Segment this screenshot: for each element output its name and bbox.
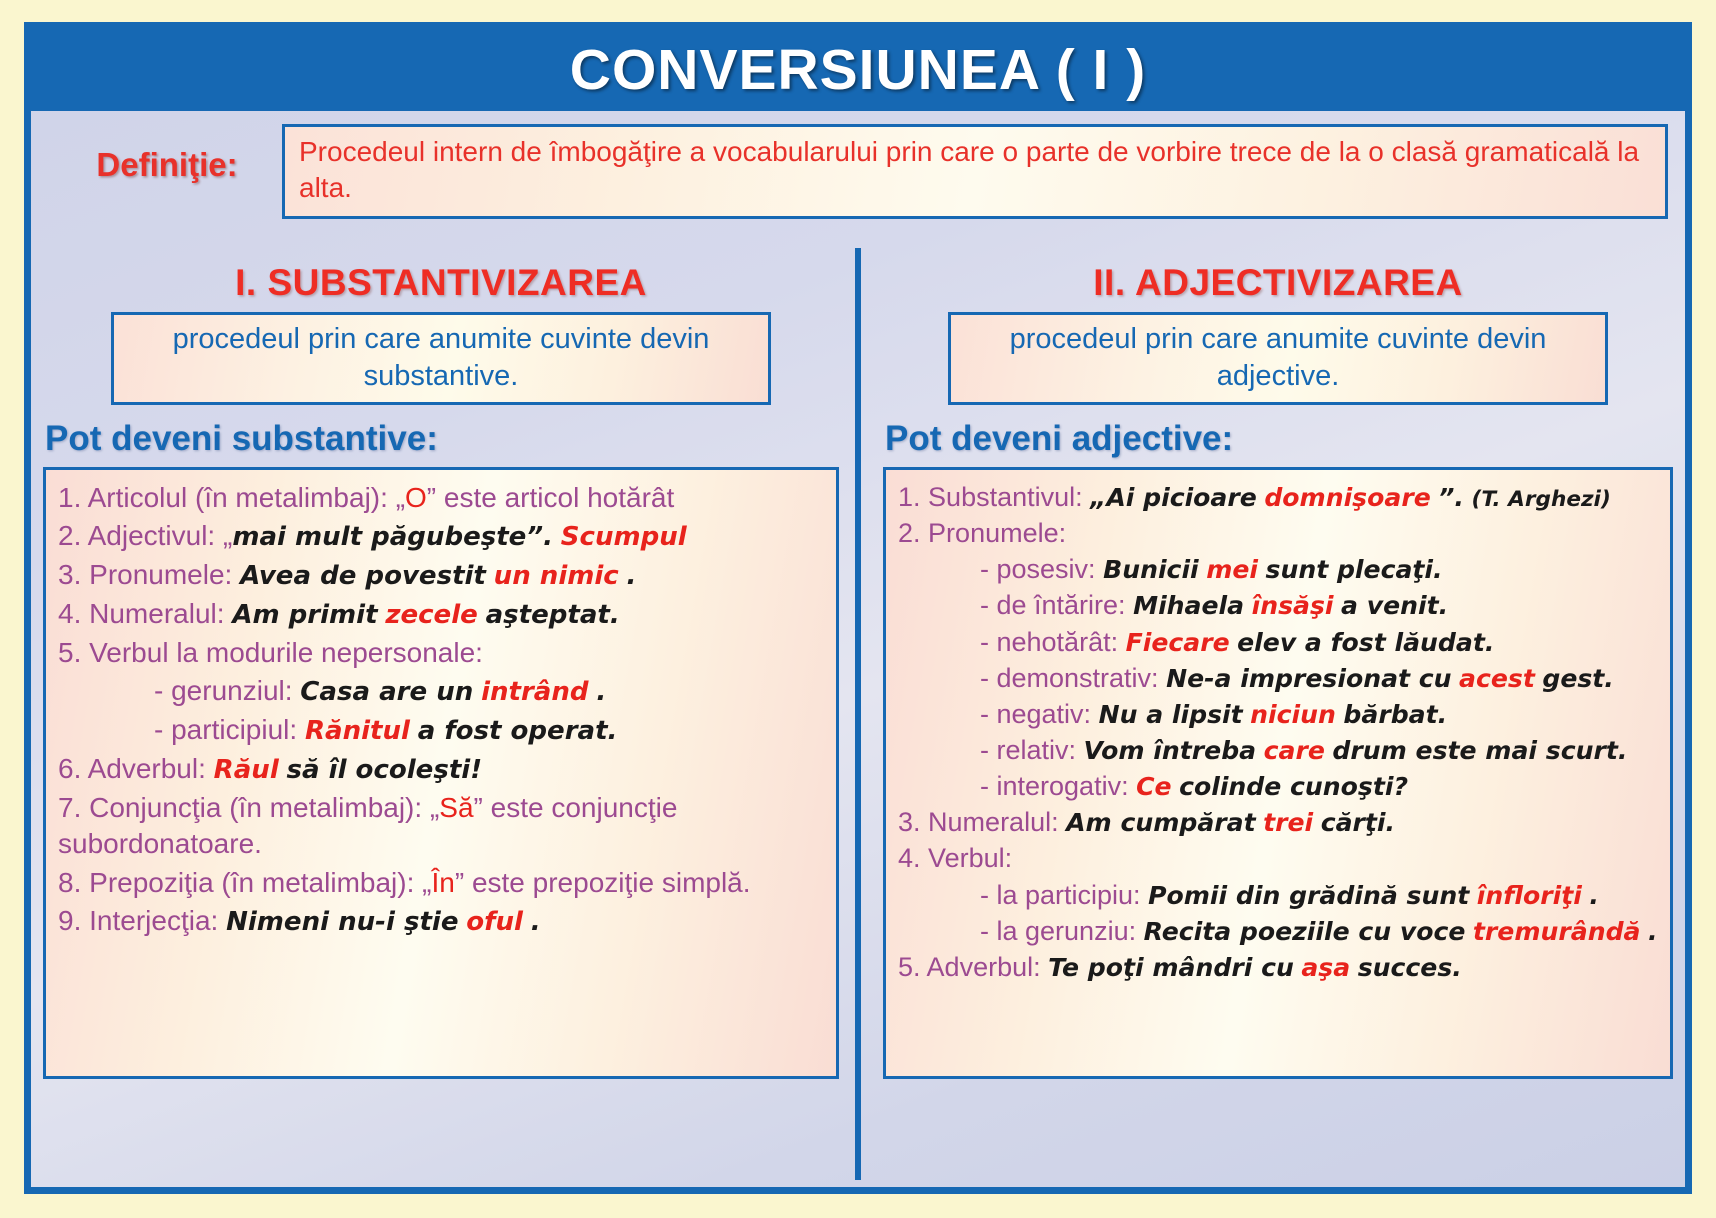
highlight-word: domnişoare — [1264, 483, 1430, 512]
subtitle-text-left: procedeul prin care anumite cuvinte devi… — [122, 321, 760, 394]
item-sublabel: - gerunziul: — [154, 675, 293, 706]
item-label: Interjecţia: — [89, 905, 218, 936]
item-label: Adverbul: — [927, 952, 1041, 982]
example-text: Pomii din grădină sunt — [1148, 881, 1469, 910]
example-text: Te poţi mândri cu — [1048, 953, 1294, 982]
highlight-word: Scumpul — [561, 522, 687, 552]
example-text: „Ai picioare — [1090, 483, 1257, 512]
list-item: 3. Numeralul: Am cumpărat trei cărţi. — [898, 805, 1658, 839]
example-text: mai mult păgubeşte”. — [232, 522, 553, 552]
example-text: Am primit — [232, 600, 377, 630]
highlight-word: tremurândă — [1473, 917, 1641, 946]
list-item: - de întărire: Mihaela însăşi a venit. — [898, 588, 1658, 622]
item-sublabel: - participiul: — [154, 714, 297, 745]
item-label: Articolul (în metalimbaj): — [88, 482, 388, 513]
item-label: Numeralul: — [928, 807, 1059, 837]
example-text: colinde cunoşti? — [1179, 772, 1408, 801]
example-text: Nimeni nu-i ştie — [226, 907, 458, 937]
highlight-word: Rănitul — [305, 716, 410, 746]
item-number: 1. — [898, 482, 921, 512]
list-item: 5. Verbul la modurile nepersonale: — [58, 635, 824, 671]
example-text: Ne-a impresionat cu — [1166, 664, 1451, 693]
quote-close: ” — [427, 482, 436, 513]
example-text: elev a fost lăudat. — [1237, 628, 1494, 657]
list-item: 1. Substantivul: „Ai picioare domnişoare… — [898, 480, 1658, 514]
quote-open: „ — [396, 482, 405, 513]
example-text: Bunicii — [1103, 555, 1199, 584]
example-text: succes. — [1358, 953, 1462, 982]
highlight-word: un nimic — [494, 561, 619, 591]
item-number: 2. — [898, 518, 921, 548]
item-label: Pronumele: — [89, 559, 232, 590]
example-text: . — [531, 907, 541, 937]
item-number: 7. — [58, 792, 81, 823]
list-item: - la participiu: Pomii din grădină sunt … — [898, 878, 1658, 912]
item-sublabel: - la gerunziu: — [980, 916, 1136, 946]
subtitle-box-left: procedeul prin care anumite cuvinte devi… — [111, 312, 771, 405]
highlight-word: însăşi — [1252, 591, 1334, 620]
highlight-word: acest — [1459, 664, 1535, 693]
poster-root: CONVERSIUNEA ( I ) Definiţie: Procedeul … — [0, 0, 1716, 1218]
highlight-word: Ce — [1136, 772, 1171, 801]
item-number: 4. — [58, 598, 81, 629]
list-item: 6. Adverbul: Răul să îl ocoleşti! — [58, 751, 824, 788]
item-number: 5. — [898, 952, 921, 982]
highlight-word: aşa — [1301, 953, 1350, 982]
list-item: 4. Numeralul: Am primit zecele aşteptat. — [58, 596, 824, 633]
quote-open: „ — [430, 792, 439, 823]
example-text: sunt plecaţi. — [1266, 555, 1443, 584]
list-box-left: 1. Articolul (în metalimbaj): „O” este a… — [43, 467, 839, 1079]
item-label: Pronumele: — [928, 518, 1066, 548]
example-text: a venit. — [1341, 591, 1448, 620]
item-sublabel: - negativ: — [980, 699, 1091, 729]
item-number: 2. — [58, 520, 81, 551]
section-title-left: I. SUBSTANTIVIZAREA — [43, 262, 839, 304]
section-title-right: II. ADJECTIVIZAREA — [883, 262, 1673, 304]
list-item: 2. Pronumele: — [898, 516, 1658, 550]
highlight-word: Să — [439, 792, 473, 823]
list-item: 4. Verbul: — [898, 841, 1658, 875]
column-substantivizarea: I. SUBSTANTIVIZAREA procedeul prin care … — [31, 248, 851, 1079]
example-text: Avea de povestit — [240, 561, 486, 591]
item-number: 6. — [58, 753, 81, 784]
highlight-word: mei — [1206, 555, 1258, 584]
quote-close: ” — [455, 867, 464, 898]
list-item: 7. Conjuncţia (în metalimbaj): „Să” este… — [58, 790, 824, 863]
list-item: - demonstrativ: Ne-a impresionat cu aces… — [898, 661, 1658, 695]
title-bar: CONVERSIUNEA ( I ) — [31, 29, 1685, 111]
item-sublabel: - nehotărât: — [980, 627, 1118, 657]
item-label: Prepoziţia (în metalimbaj): — [89, 867, 414, 898]
list-heading-right: Pot deveni adjective: — [885, 419, 1673, 459]
item-label: Verbul la modurile nepersonale: — [89, 637, 483, 668]
list-item: 3. Pronumele: Avea de povestit un nimic … — [58, 557, 824, 594]
item-sublabel: - de întărire: — [980, 590, 1126, 620]
example-text: aşteptat. — [486, 600, 620, 630]
example-text: Recita poeziile cu voce — [1144, 917, 1466, 946]
highlight-word: O — [405, 482, 427, 513]
list-heading-left: Pot deveni substantive: — [45, 419, 839, 459]
item-sublabel: - la participiu: — [980, 880, 1141, 910]
subtitle-box-right: procedeul prin care anumite cuvinte devi… — [948, 312, 1608, 405]
list-item: - negativ: Nu a lipsit niciun bărbat. — [898, 697, 1658, 731]
list-item: - relativ: Vom întreba care drum este ma… — [898, 733, 1658, 767]
highlight-word: înfloriţi — [1477, 881, 1582, 910]
item-number: 4. — [898, 843, 921, 873]
example-text: Nu a lipsit — [1099, 700, 1243, 729]
definition-label: Definiţie: — [52, 124, 282, 184]
list-box-right: 1. Substantivul: „Ai picioare domnişoare… — [883, 467, 1673, 1079]
column-divider — [855, 248, 861, 1180]
item-tail-label: este prepoziţie simplă. — [472, 867, 751, 898]
attribution: (T. Arghezi) — [1472, 487, 1611, 512]
item-label: Adjectivul: — [88, 520, 216, 551]
highlight-word: intrând — [481, 677, 588, 707]
highlight-word: Fiecare — [1126, 628, 1230, 657]
example-text: Vom întreba — [1084, 736, 1257, 765]
subtitle-text-right: procedeul prin care anumite cuvinte devi… — [959, 321, 1597, 394]
example-text: să îl ocoleşti! — [287, 755, 483, 785]
example-text: Mihaela — [1133, 591, 1244, 620]
example-text: a fost operat. — [418, 716, 618, 746]
highlight-word: trei — [1263, 808, 1313, 837]
highlight-word: Răul — [214, 755, 279, 785]
list-item: - posesiv: Bunicii mei sunt plecaţi. — [898, 552, 1658, 586]
quote-close: ” — [474, 792, 483, 823]
item-number: 3. — [898, 807, 921, 837]
definition-box: Procedeul intern de îmbogăţire a vocabul… — [282, 124, 1668, 219]
highlight-word: care — [1264, 736, 1325, 765]
quote-open: „ — [223, 520, 232, 551]
list-item: 8. Prepoziţia (în metalimbaj): „În” este… — [58, 865, 824, 901]
list-item: 9. Interjecţia: Nimeni nu-i ştie oful . — [58, 903, 824, 940]
item-sublabel: - interogativ: — [980, 771, 1129, 801]
item-tail-label: este articol hotărât — [444, 482, 674, 513]
example-text: . — [1648, 917, 1658, 946]
list-item: - la gerunziu: Recita poeziile cu voce t… — [898, 914, 1658, 948]
item-number: 8. — [58, 867, 81, 898]
item-label: Numeralul: — [89, 598, 224, 629]
highlight-word: În — [431, 867, 454, 898]
item-label: Substantivul: — [928, 482, 1083, 512]
item-sublabel: - demonstrativ: — [980, 663, 1159, 693]
list-item: - participiul: Rănitul a fost operat. — [58, 712, 824, 749]
definition-row: Definiţie: Procedeul intern de îmbogăţir… — [52, 124, 1668, 212]
item-number: 5. — [58, 637, 81, 668]
example-text: Am cumpărat — [1066, 808, 1256, 837]
list-item: - interogativ: Ce colinde cunoşti? — [898, 769, 1658, 803]
item-label: Conjuncţia (în metalimbaj): — [89, 792, 422, 823]
example-text: . — [1589, 881, 1599, 910]
item-number: 3. — [58, 559, 81, 590]
highlight-word: zecele — [385, 600, 477, 630]
column-adjectivizarea: II. ADJECTIVIZAREA procedeul prin care a… — [871, 248, 1685, 1079]
item-number: 9. — [58, 905, 81, 936]
item-label: Verbul: — [928, 843, 1012, 873]
definition-text: Procedeul intern de îmbogăţire a vocabul… — [299, 134, 1651, 207]
list-item: 1. Articolul (în metalimbaj): „O” este a… — [58, 480, 824, 516]
list-item: - nehotărât: Fiecare elev a fost lăudat. — [898, 625, 1658, 659]
example-text: bărbat. — [1343, 700, 1447, 729]
example-text: Casa are un — [300, 677, 473, 707]
example-text: drum este mai scurt. — [1332, 736, 1627, 765]
example-text: . — [627, 561, 637, 591]
list-item: 5. Adverbul: Te poţi mândri cu aşa succe… — [898, 950, 1658, 984]
list-item: 2. Adjectivul: „mai mult păgubeşte”. Scu… — [58, 518, 824, 555]
list-item: - gerunziul: Casa are un intrând . — [58, 673, 824, 710]
example-text: cărţi. — [1321, 808, 1395, 837]
item-number: 1. — [58, 482, 81, 513]
item-sublabel: - relativ: — [980, 735, 1076, 765]
highlight-word: niciun — [1250, 700, 1336, 729]
example-text: . — [596, 677, 606, 707]
highlight-word: oful — [466, 907, 523, 937]
example-text: ”. — [1438, 483, 1464, 512]
item-sublabel: - posesiv: — [980, 554, 1096, 584]
example-text: gest. — [1542, 664, 1614, 693]
item-label: Adverbul: — [88, 753, 206, 784]
page-title: CONVERSIUNEA ( I ) — [570, 37, 1146, 103]
